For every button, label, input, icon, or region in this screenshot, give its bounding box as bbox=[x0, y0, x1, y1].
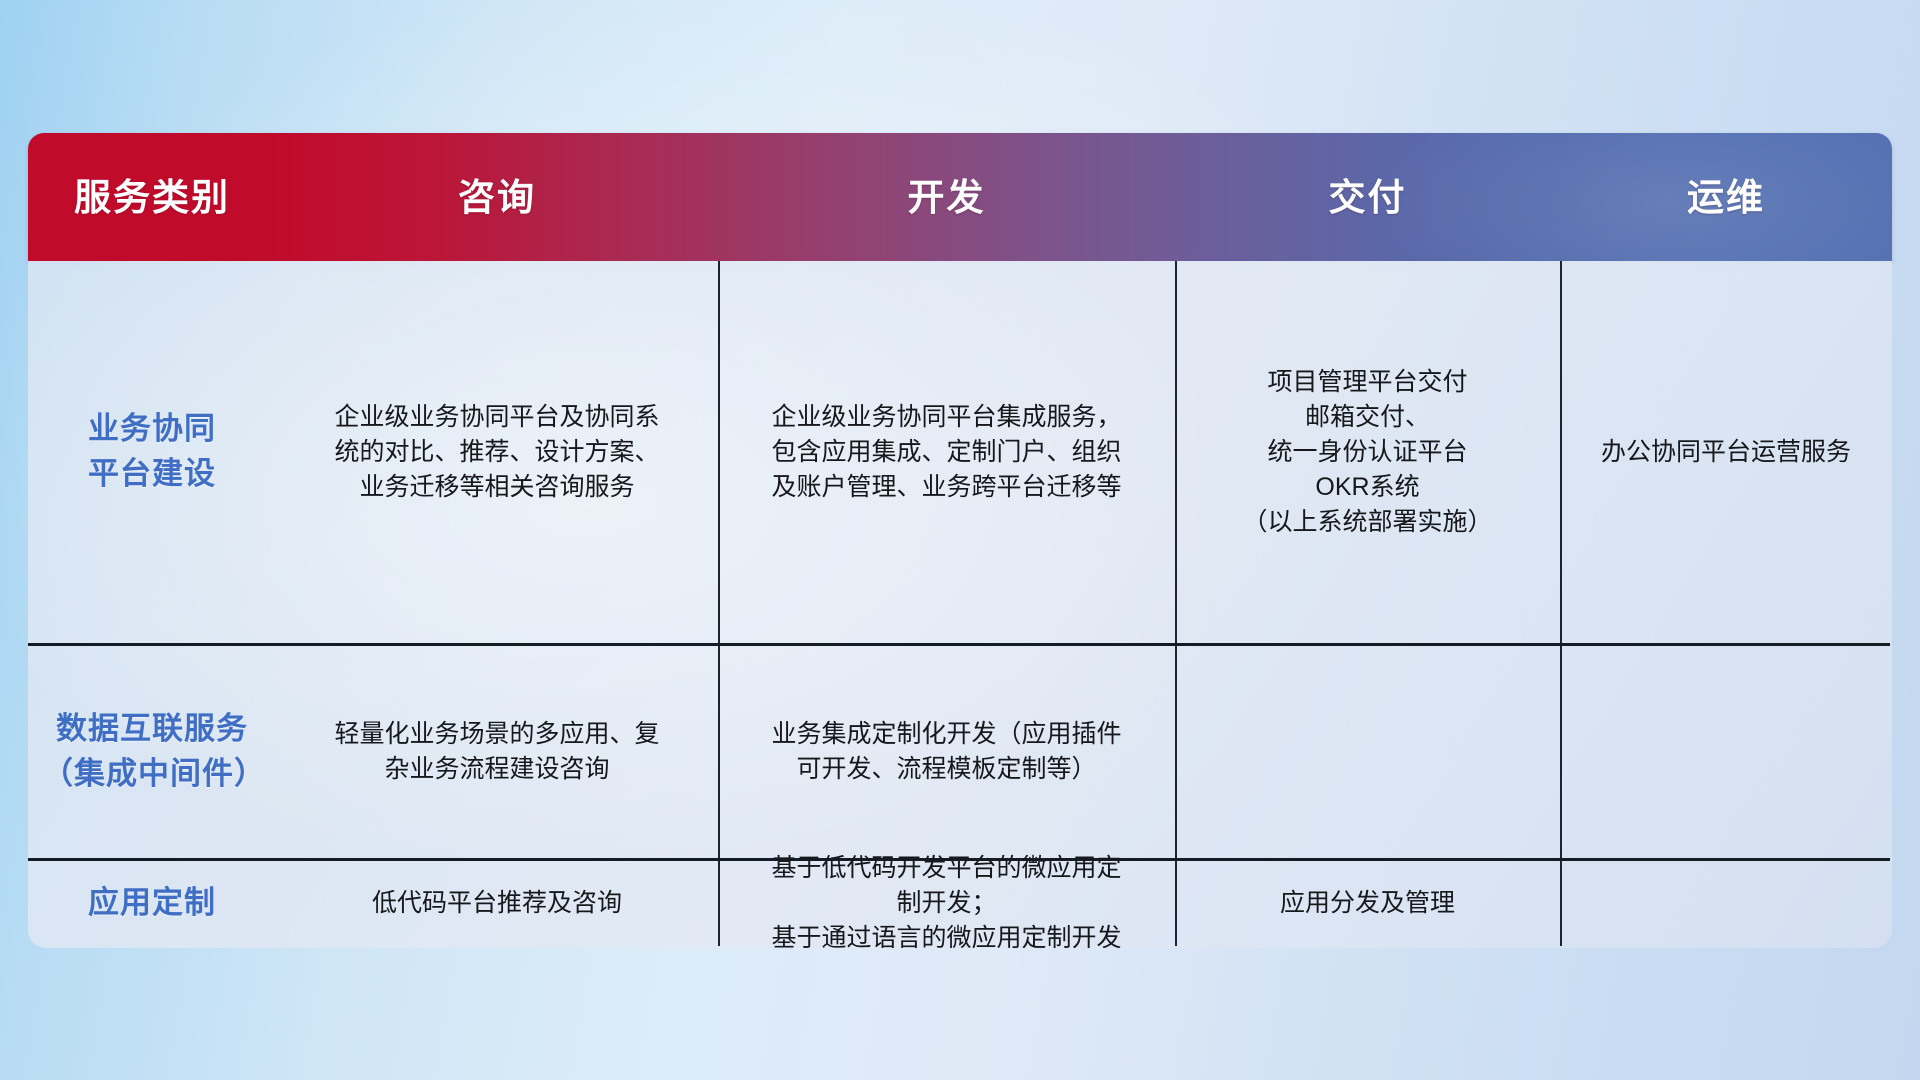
row-label-app-customization: 应用定制 bbox=[28, 881, 276, 926]
column-header-category: 服务类别 bbox=[28, 179, 276, 216]
cell-consulting-row1: 企业级业务协同平台及协同系 统的对比、推荐、设计方案、 业务迁移等相关咨询服务 bbox=[276, 400, 718, 505]
table-row: 应用定制 低代码平台推荐及咨询 基于低代码开发平台的微应用定 制开发； 基于通过… bbox=[28, 861, 1892, 946]
column-header-consulting: 咨询 bbox=[276, 179, 718, 216]
table-header-row: 服务类别 咨询 开发 交付 运维 bbox=[28, 133, 1892, 261]
column-header-development: 开发 bbox=[718, 179, 1175, 216]
column-header-operations: 运维 bbox=[1560, 179, 1892, 216]
cell-development-row2: 业务集成定制化开发（应用插件 可开发、流程模板定制等） bbox=[718, 717, 1175, 787]
cell-delivery-row3: 应用分发及管理 bbox=[1175, 886, 1560, 921]
cell-development-row1: 企业级业务协同平台集成服务， 包含应用集成、定制门户、组织 及账户管理、业务跨平… bbox=[718, 400, 1175, 505]
row-label-data-interconnect: 数据互联服务 （集成中间件） bbox=[28, 707, 276, 797]
column-header-delivery: 交付 bbox=[1175, 179, 1560, 216]
cell-delivery-row1: 项目管理平台交付 邮箱交付、 统一身份认证平台 OKR系统 （以上系统部署实施） bbox=[1175, 365, 1560, 540]
slide-canvas: 服务类别 咨询 开发 交付 运维 业务协同 平台建设 企业级业务协同平台及协同系… bbox=[0, 0, 1920, 1080]
cell-consulting-row3: 低代码平台推荐及咨询 bbox=[276, 886, 718, 921]
service-matrix-table: 服务类别 咨询 开发 交付 运维 业务协同 平台建设 企业级业务协同平台及协同系… bbox=[28, 133, 1892, 948]
cell-development-row3: 基于低代码开发平台的微应用定 制开发； 基于通过语言的微应用定制开发 bbox=[718, 851, 1175, 948]
cell-operations-row1: 办公协同平台运营服务 bbox=[1560, 435, 1892, 470]
row-label-business-collaboration: 业务协同 平台建设 bbox=[28, 407, 276, 497]
cell-consulting-row2: 轻量化业务场景的多应用、复 杂业务流程建设咨询 bbox=[276, 717, 718, 787]
table-body: 业务协同 平台建设 企业级业务协同平台及协同系 统的对比、推荐、设计方案、 业务… bbox=[28, 261, 1892, 948]
table-row: 业务协同 平台建设 企业级业务协同平台及协同系 统的对比、推荐、设计方案、 业务… bbox=[28, 261, 1892, 643]
table-row: 数据互联服务 （集成中间件） 轻量化业务场景的多应用、复 杂业务流程建设咨询 业… bbox=[28, 646, 1892, 858]
